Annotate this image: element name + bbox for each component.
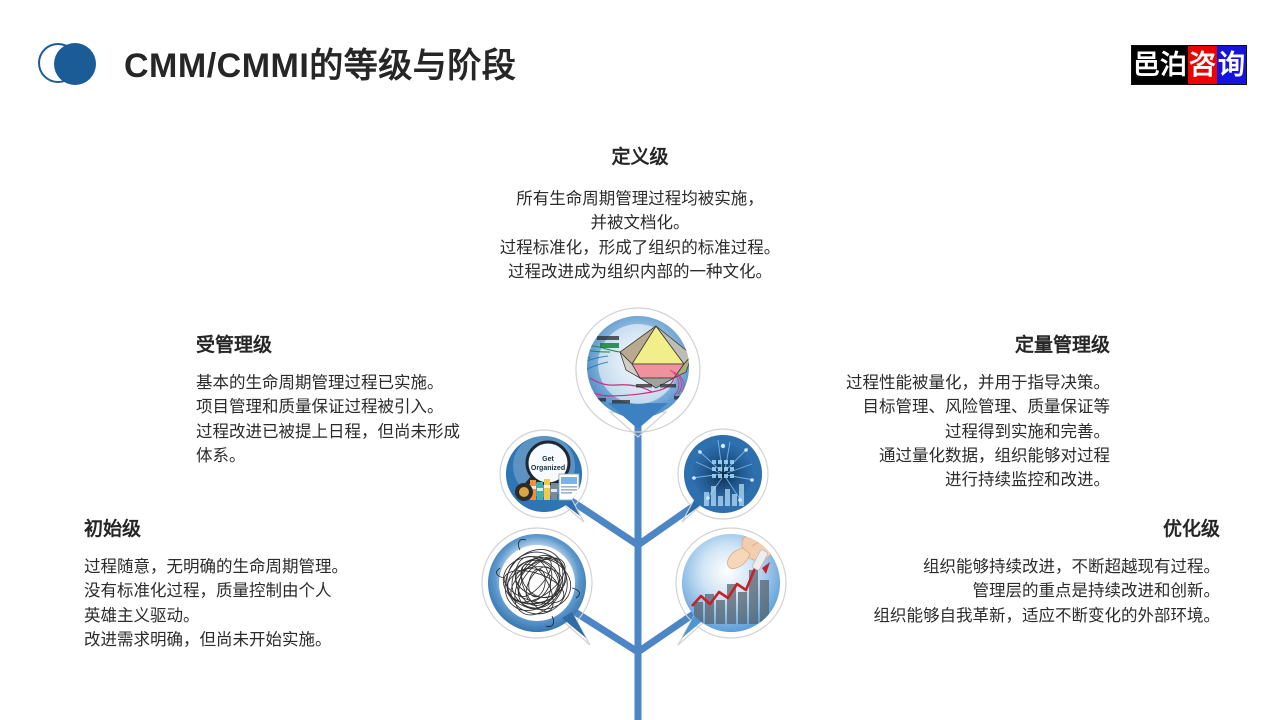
level-body-initial: 过程随意，无明确的生命周期管理。 没有标准化过程，质量控制由个人 英雄主义驱动。… (84, 555, 414, 652)
level-title-defined: 定义级 (440, 142, 840, 169)
tree-node-bottom-right (676, 528, 786, 645)
page-title: CMM/CMMI的等级与阶段 (124, 38, 516, 87)
hand-drawing-growth-chart-illustration (682, 533, 780, 632)
level-block-initial: 初始级 过程随意，无明确的生命周期管理。 没有标准化过程，质量控制由个人 英雄主… (84, 514, 414, 652)
svg-text:Organized: Organized (531, 465, 565, 472)
level-block-managed: 受管理级 基本的生命周期管理过程已实施。 项目管理和质量保证过程被引入。 过程改… (196, 330, 496, 468)
level-title-optimizing: 优化级 (800, 514, 1220, 541)
two-circles-mark-icon (38, 42, 102, 88)
tree-node-mid-right (678, 429, 768, 522)
level-body-optimizing: 组织能够持续改进，不断超越现有过程。 管理层的重点是持续改进和创新。 组织能够自… (800, 555, 1220, 628)
level-title-quantitative: 定量管理级 (770, 330, 1110, 357)
level-body-quantitative: 过程性能被量化，并用于指导决策。 目标管理、风险管理、质量保证等 过程得到实施和… (770, 371, 1110, 492)
brand-logo-segment-1: 邑泊 (1132, 46, 1188, 84)
level-title-managed: 受管理级 (196, 330, 496, 357)
tree-node-mid-left: Get Organized (500, 430, 588, 522)
data-network-illustration (684, 435, 762, 513)
level-body-defined: 所有生命周期管理过程均被实施， 并被文档化。 过程标准化，形成了组织的标准过程。… (440, 187, 840, 284)
level-body-managed: 基本的生命周期管理过程已实施。 项目管理和质量保证过程被引入。 过程改进已被提上… (196, 371, 496, 468)
tree-node-top (567, 308, 700, 437)
level-block-defined: 定义级 所有生命周期管理过程均被实施， 并被文档化。 过程标准化，形成了组织的标… (440, 142, 840, 284)
brand-logo: 邑泊 咨 询 (1131, 45, 1247, 85)
level-title-initial: 初始级 (84, 514, 414, 541)
tree-node-bottom-left (482, 528, 592, 645)
slide-header: CMM/CMMI的等级与阶段 邑泊 咨 询 (0, 0, 1280, 118)
level-block-quantitative: 定量管理级 过程性能被量化，并用于指导决策。 目标管理、风险管理、质量保证等 过… (770, 330, 1110, 492)
cmmi-tree-diagram: Get Organized (460, 300, 820, 720)
level-block-optimizing: 优化级 组织能够持续改进，不断超越现有过程。 管理层的重点是持续改进和创新。 组… (800, 514, 1220, 628)
svg-text:Get: Get (542, 456, 554, 463)
brand-logo-segment-3: 询 (1217, 46, 1246, 84)
circle-filled-icon (54, 43, 96, 85)
get-organized-illustration: Get Organized (506, 435, 582, 512)
brand-logo-segment-2: 咨 (1188, 46, 1217, 84)
